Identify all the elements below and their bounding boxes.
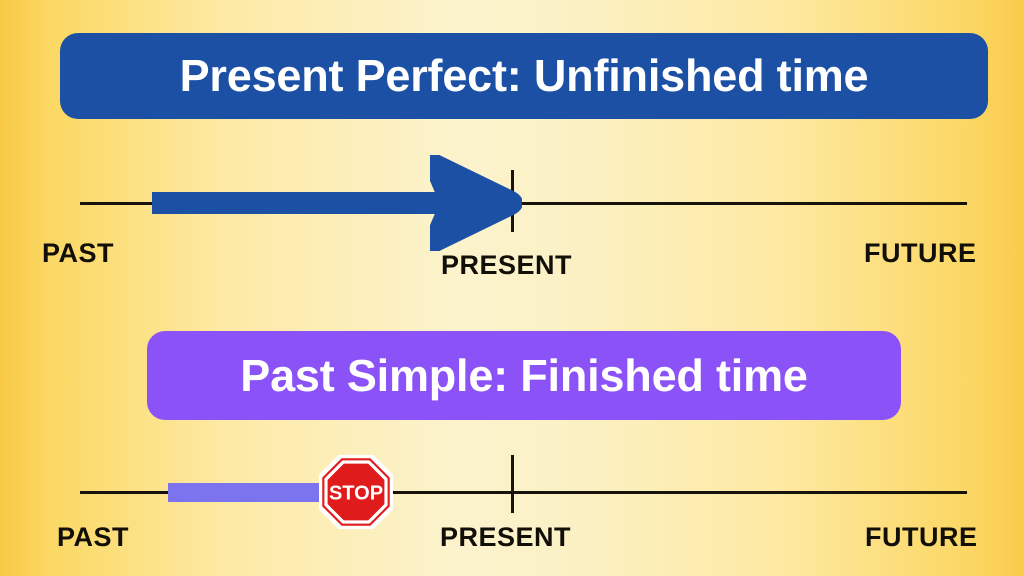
label-future-past-simple: FUTURE [865, 522, 978, 553]
slide-canvas: Present Perfect: Unfinished time PAST PR… [0, 0, 1024, 576]
banner-present-perfect: Present Perfect: Unfinished time [60, 33, 988, 119]
banner-present-perfect-label: Present Perfect: Unfinished time [180, 50, 869, 102]
stop-sign-icon: STOP [319, 455, 393, 529]
label-future-present-perfect: FUTURE [864, 238, 977, 269]
label-present-past-simple: PRESENT [440, 522, 571, 553]
present-tick-past-simple [511, 455, 514, 513]
finished-time-bar [168, 483, 326, 502]
timeline-axis-present-perfect [80, 202, 967, 205]
label-past-present-perfect: PAST [42, 238, 114, 269]
banner-past-simple-label: Past Simple: Finished time [240, 350, 807, 402]
present-tick-present-perfect [511, 170, 514, 232]
label-present-present-perfect: PRESENT [441, 250, 572, 281]
unfinished-time-arrow-head-icon [430, 155, 522, 251]
label-past-past-simple: PAST [57, 522, 129, 553]
stop-sign-label: STOP [329, 483, 383, 505]
timeline-axis-past-simple [80, 491, 967, 494]
unfinished-time-arrow-shaft [152, 192, 452, 214]
banner-past-simple: Past Simple: Finished time [147, 331, 901, 420]
